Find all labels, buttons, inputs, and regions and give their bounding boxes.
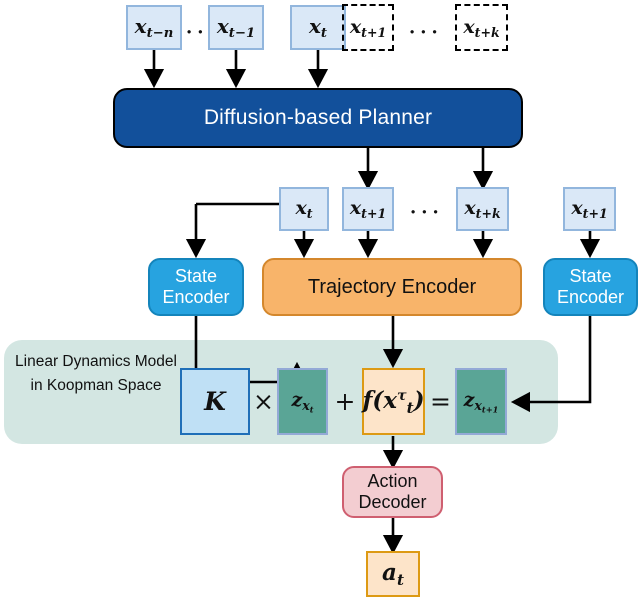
input-state-box-0[interactable]: xt−n: [126, 5, 182, 50]
latent-state-current-box[interactable]: zxt: [277, 368, 328, 435]
input-state-box-2[interactable]: xt: [290, 5, 346, 50]
action-decoder[interactable]: Action Decoder: [342, 466, 443, 518]
state-encoder-left-line2: Encoder: [162, 287, 229, 308]
input-ellipsis-2: ···: [408, 20, 442, 46]
diffusion-based-planner[interactable]: Diffusion-based Planner: [113, 88, 523, 148]
input-state-box-3-predicted[interactable]: xt+1: [342, 4, 394, 51]
input-state-label-0: xt−n: [135, 14, 174, 41]
plus-operator: +: [330, 368, 360, 435]
input-state-box-1[interactable]: xt−1: [208, 5, 264, 50]
input-state-label-2: xt: [309, 14, 327, 41]
equals-operator: =: [426, 368, 455, 435]
action-output-label: at: [382, 559, 404, 589]
trajectory-encoder-label: Trajectory Encoder: [308, 276, 476, 299]
multiply-operator: ×: [250, 368, 277, 435]
input-state-box-4-predicted[interactable]: xt+k: [455, 4, 508, 51]
action-decoder-line1: Action: [367, 471, 417, 492]
residual-function-label: f(xτt): [363, 387, 425, 417]
diagram-canvas: xt−n ··· xt−1 xt xt+1 ··· xt+k Diffusion…: [0, 0, 640, 600]
koopman-caption-line1: Linear Dynamics Model: [6, 350, 186, 374]
koopman-caption-line2: in Koopman Space: [6, 374, 186, 398]
latent-state-next-box[interactable]: zxt+1: [455, 368, 507, 435]
input-state-label-4: xt+k: [463, 16, 499, 40]
action-output-box[interactable]: at: [366, 551, 420, 597]
output-state-label-0: xt: [295, 197, 312, 221]
state-encoder-right-line2: Encoder: [557, 287, 624, 308]
koopman-caption: Linear Dynamics Model in Koopman Space: [6, 350, 186, 398]
next-state-label-right: xt+1: [571, 197, 607, 221]
koopman-operator-label: K: [204, 387, 226, 416]
latent-state-current-label: zxt: [291, 389, 313, 415]
input-state-label-3: xt+1: [350, 16, 386, 40]
state-encoder-left[interactable]: State Encoder: [148, 258, 244, 316]
state-encoder-left-line1: State: [175, 266, 217, 287]
action-decoder-line2: Decoder: [358, 492, 426, 513]
output-state-box-0[interactable]: xt: [279, 187, 329, 231]
output-state-box-1[interactable]: xt+1: [342, 187, 394, 231]
residual-function-box[interactable]: f(xτt): [362, 368, 425, 435]
latent-state-next-label: zxt+1: [464, 389, 499, 415]
state-encoder-right[interactable]: State Encoder: [543, 258, 638, 316]
input-state-label-1: xt−1: [217, 14, 255, 41]
trajectory-encoder[interactable]: Trajectory Encoder: [262, 258, 522, 316]
output-ellipsis: ···: [409, 200, 443, 226]
koopman-operator-box[interactable]: K: [180, 368, 250, 435]
output-state-label-1: xt+1: [350, 197, 386, 221]
planner-label: Diffusion-based Planner: [204, 106, 432, 130]
output-state-box-2[interactable]: xt+k: [456, 187, 509, 231]
state-encoder-right-line1: State: [569, 266, 611, 287]
output-state-label-2: xt+k: [464, 197, 500, 221]
next-state-box-right[interactable]: xt+1: [563, 187, 616, 231]
